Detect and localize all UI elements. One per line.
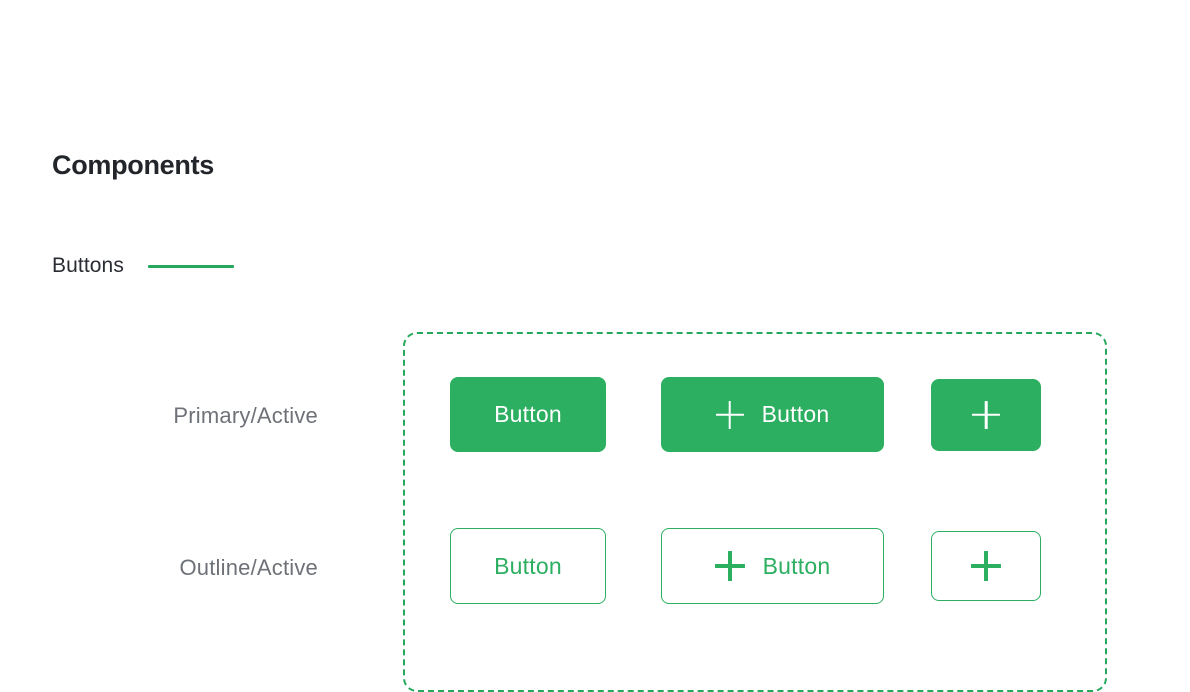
outline-button-icon-only[interactable]: [931, 531, 1041, 601]
button-row-outline-active: Button Button: [450, 528, 1041, 604]
plus-icon: [971, 551, 1001, 581]
plus-icon: [716, 401, 744, 429]
outline-button-icon-text-label: Button: [763, 553, 831, 580]
button-row-primary-active: Button Button: [450, 377, 1041, 452]
outline-button-text-label: Button: [494, 553, 562, 580]
section-title: Buttons: [52, 250, 124, 282]
row-label-primary-active: Primary/Active: [18, 401, 318, 431]
section-header: Buttons: [52, 250, 234, 282]
primary-button-icon-text[interactable]: Button: [661, 377, 884, 452]
primary-button-icon-only[interactable]: [931, 379, 1041, 451]
plus-icon: [972, 401, 1000, 429]
primary-button-text-label: Button: [494, 401, 562, 428]
outline-button-text[interactable]: Button: [450, 528, 606, 604]
section-accent-rule: [148, 265, 234, 268]
plus-icon: [715, 551, 745, 581]
page-title: Components: [52, 147, 214, 183]
row-label-outline-active: Outline/Active: [18, 553, 318, 583]
primary-button-icon-text-label: Button: [762, 401, 830, 428]
outline-button-icon-text[interactable]: Button: [661, 528, 884, 604]
primary-button-text[interactable]: Button: [450, 377, 606, 452]
